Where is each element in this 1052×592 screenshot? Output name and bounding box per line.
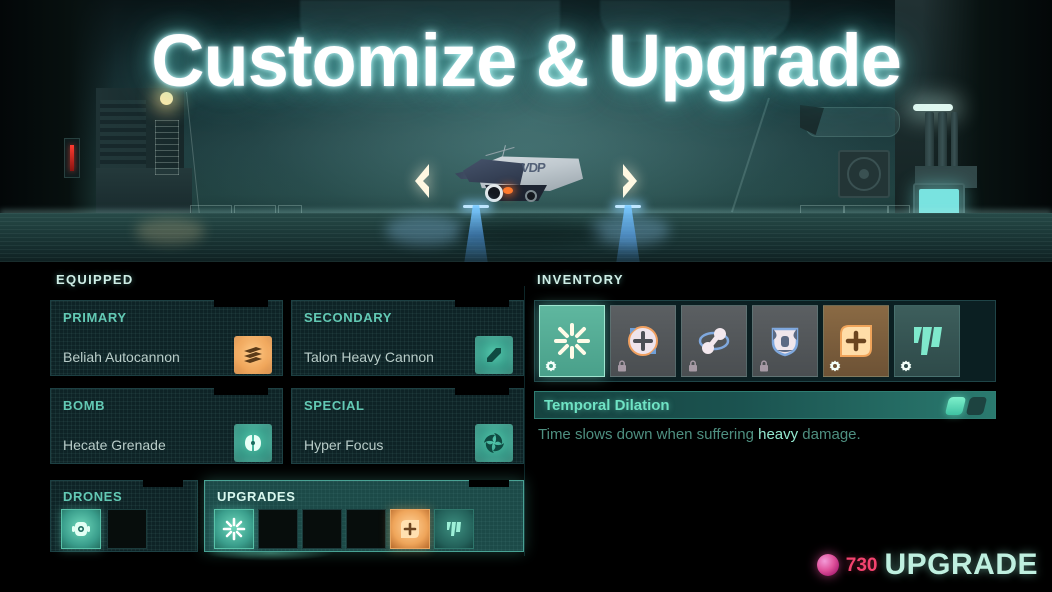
inventory-slot-health-plus[interactable] bbox=[823, 305, 889, 377]
equipped-slot-primary[interactable]: PRIMARY Beliah Autocannon bbox=[50, 300, 283, 376]
ship-preview[interactable]: VDP bbox=[455, 145, 590, 215]
currency-amount: 730 bbox=[846, 556, 878, 575]
item-rank-pips bbox=[947, 397, 985, 415]
item-name: Temporal Dilation bbox=[544, 398, 670, 413]
upgrade-slot-4[interactable] bbox=[390, 509, 430, 549]
column-divider bbox=[524, 286, 525, 556]
item-detail-header: Temporal Dilation bbox=[534, 391, 996, 419]
description-before: Time slows down when suffering bbox=[538, 426, 758, 443]
heavy-cannon-icon bbox=[475, 336, 513, 374]
left-ladder bbox=[155, 120, 179, 175]
thruster-reflection-left bbox=[385, 215, 465, 245]
game-screen: VDP Customize & Upgrade EQUIPPED PRIMARY… bbox=[0, 0, 1052, 592]
ship-engine-glow bbox=[503, 187, 513, 194]
equipped-slot-name: Beliah Autocannon bbox=[63, 350, 180, 364]
upgrade-slot-5[interactable] bbox=[434, 509, 474, 549]
grenade-icon bbox=[234, 424, 272, 462]
rank-pip-empty bbox=[966, 397, 987, 415]
inventory-slot-shield-blades[interactable] bbox=[894, 305, 960, 377]
equipped-slot-label: SECONDARY bbox=[304, 311, 392, 324]
description-highlight: heavy bbox=[758, 426, 798, 443]
ship-antenna-horizontal bbox=[485, 147, 514, 156]
upgrades-label: UPGRADES bbox=[217, 490, 295, 503]
lock-icon bbox=[757, 359, 771, 373]
description-after: damage. bbox=[798, 426, 861, 443]
upgrades-panel[interactable]: UPGRADES bbox=[204, 480, 524, 552]
upgrade-slot-0[interactable] bbox=[214, 509, 254, 549]
equipped-slot-special[interactable]: SPECIAL Hyper Focus bbox=[291, 388, 524, 464]
inventory-grid bbox=[534, 300, 996, 382]
ceiling-light bbox=[913, 104, 953, 111]
upgrade-button-label: UPGRADE bbox=[884, 550, 1038, 580]
fan-blades bbox=[847, 157, 881, 191]
next-ship-button[interactable] bbox=[621, 162, 643, 200]
rank-pip-filled bbox=[945, 397, 966, 415]
equipped-slot-name: Hecate Grenade bbox=[63, 438, 166, 452]
ship-cockpit bbox=[463, 159, 525, 185]
upgrade-slot-2[interactable] bbox=[302, 509, 342, 549]
equipped-slot-name: Hyper Focus bbox=[304, 438, 383, 452]
autocannon-icon bbox=[234, 336, 272, 374]
inventory-slot-temporal-dilation[interactable] bbox=[539, 305, 605, 377]
lamp-reflection bbox=[135, 218, 205, 244]
equipped-slot-label: PRIMARY bbox=[63, 311, 127, 324]
red-indicator-light bbox=[70, 145, 74, 171]
equipped-heading: EQUIPPED bbox=[56, 273, 134, 286]
gear-icon bbox=[828, 359, 842, 373]
equipped-slot-bomb[interactable]: BOMB Hecate Grenade bbox=[50, 388, 283, 464]
page-title: Customize & Upgrade bbox=[0, 24, 1052, 98]
lock-icon bbox=[686, 359, 700, 373]
ship-wheel-rear bbox=[525, 190, 537, 202]
inventory-heading: INVENTORY bbox=[537, 273, 624, 286]
upgrade-slot-3[interactable] bbox=[346, 509, 386, 549]
gear-icon bbox=[544, 359, 558, 373]
equipped-slot-label: BOMB bbox=[63, 399, 105, 412]
inventory-slot-health-plus-circle[interactable] bbox=[610, 305, 676, 377]
inventory-slot-twin-orbit[interactable] bbox=[681, 305, 747, 377]
drone-slot-0[interactable] bbox=[61, 509, 101, 549]
inventory-slot-armor-core[interactable] bbox=[752, 305, 818, 377]
lock-icon bbox=[615, 359, 629, 373]
gear-icon bbox=[899, 359, 913, 373]
ship-wheel bbox=[485, 184, 503, 202]
drones-panel[interactable]: DRONES bbox=[50, 480, 198, 552]
equipped-slot-name: Talon Heavy Cannon bbox=[304, 350, 434, 364]
upgrade-button[interactable]: 730 UPGRADE bbox=[817, 550, 1038, 580]
upgrade-slot-1[interactable] bbox=[258, 509, 298, 549]
drones-label: DRONES bbox=[63, 490, 122, 503]
equipped-slot-secondary[interactable]: SECONDARY Talon Heavy Cannon bbox=[291, 300, 524, 376]
ship-marking: VDP bbox=[520, 160, 545, 175]
prev-ship-button[interactable] bbox=[409, 162, 431, 200]
currency-orb-icon bbox=[817, 554, 839, 576]
focus-vortex-icon bbox=[475, 424, 513, 462]
equipped-slot-label: SPECIAL bbox=[304, 399, 365, 412]
drone-slot-1[interactable] bbox=[107, 509, 147, 549]
item-description: Time slows down when suffering heavy dam… bbox=[538, 427, 861, 442]
wall-fan bbox=[838, 150, 890, 198]
